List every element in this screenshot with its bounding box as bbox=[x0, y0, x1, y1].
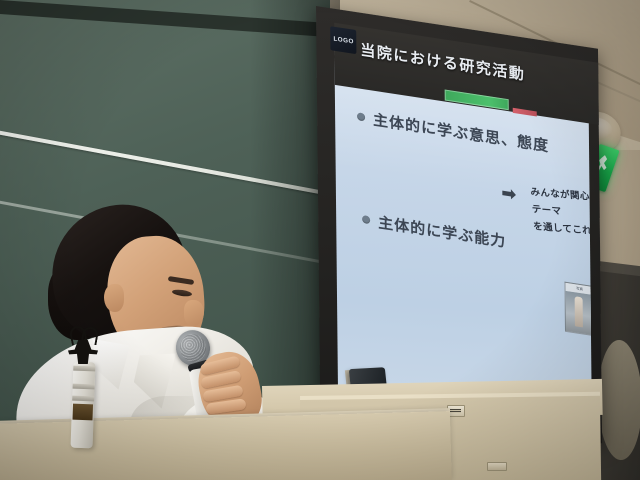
bullet-dot-icon bbox=[357, 112, 365, 121]
bullet-dot-icon bbox=[362, 215, 370, 224]
annotation-line-2-prefix: を通してこれを bbox=[533, 221, 592, 238]
podium-control-panel-secondary[interactable] bbox=[487, 462, 507, 471]
stand-microphone-ring bbox=[73, 384, 95, 390]
slide-photo-figure bbox=[575, 296, 583, 327]
slide-annotation: みんなが関心のあるテーマ を通してこれを獲得 bbox=[530, 184, 592, 243]
right-arrow-icon: ➡ bbox=[502, 186, 528, 203]
annotation-line-2: を通してこれを獲得 bbox=[533, 218, 592, 243]
microphone-clip-icon bbox=[66, 326, 100, 368]
stand-microphone-label bbox=[72, 404, 93, 421]
slide-photo-thumbnail: 写真 bbox=[564, 282, 592, 337]
photo-scene: 主体的に学ぶ意思、態度 ➡ みんなが関心のあるテーマ を通してこれを獲得 主体的… bbox=[0, 0, 640, 480]
slide-bullet-1-label: 主体的に学ぶ意思、態度 bbox=[373, 109, 549, 157]
stand-microphone-ring bbox=[72, 396, 94, 402]
slide-bullet-2-label: 主体的に学ぶ能力 bbox=[378, 211, 506, 251]
stand-microphone bbox=[71, 362, 96, 449]
presenter-ear bbox=[104, 284, 124, 312]
podium bbox=[0, 411, 452, 480]
slide-bullet-2: 主体的に学ぶ能力 bbox=[362, 209, 506, 252]
